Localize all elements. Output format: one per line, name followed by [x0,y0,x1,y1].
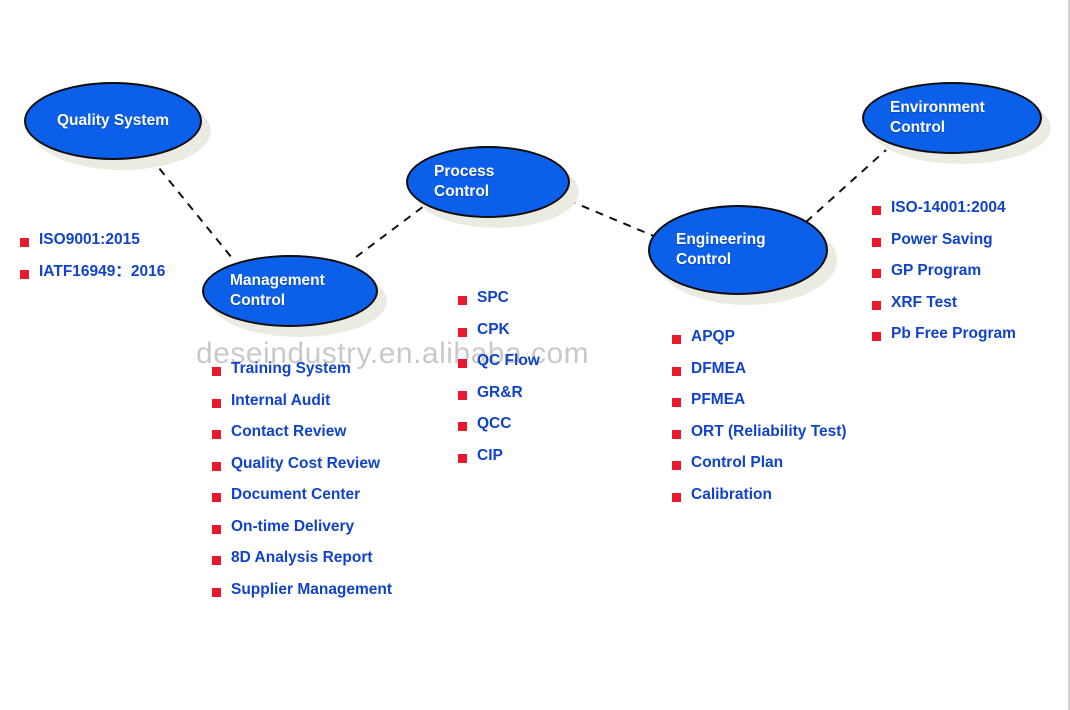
bullet-square-icon [872,238,881,247]
list-item-label: Internal Audit [231,393,330,409]
list-item-label: Calibration [691,487,772,503]
bullet-square-icon [872,332,881,341]
node-label-management-control: Management Control [204,271,376,311]
list-item-label: QCC [477,416,511,432]
bullet-square-icon [672,367,681,376]
list-item-label: IATF16949：2016 [39,264,165,280]
list-item: Quality Cost Review [212,456,392,472]
node-label-quality-system: Quality System [26,111,200,131]
bullet-square-icon [872,206,881,215]
list-item-label: Supplier Management [231,582,392,598]
list-item-label: SPC [477,290,509,306]
node-label-environment-control: Environment Control [864,98,1040,138]
list-item: XRF Test [872,295,1016,311]
list-item-label: ISO-14001:2004 [891,200,1006,216]
list-item: Internal Audit [212,393,392,409]
list-item-label: ORT (Reliability Test) [691,424,847,440]
list-item-label: Quality Cost Review [231,456,380,472]
list-item: GP Program [872,263,1016,279]
list-item-label: QC Flow [477,353,540,369]
connector-management-to-process [356,200,432,257]
list-item: ISO-14001:2004 [872,200,1016,216]
bullet-square-icon [458,454,467,463]
list-item: Control Plan [672,455,847,471]
list-item: Pb Free Program [872,326,1016,342]
list-item: PFMEA [672,392,847,408]
list-item-label: Contact Review [231,424,346,440]
list-item: Contact Review [212,424,392,440]
bullet-square-icon [458,422,467,431]
node-management-control[interactable]: Management Control [202,255,378,327]
list-item: ORT (Reliability Test) [672,424,847,440]
list-item-label: Training System [231,361,351,377]
bullet-list-engineering-control-items: APQPDFMEAPFMEAORT (Reliability Test)Cont… [672,329,847,502]
list-item-label: GR&R [477,385,523,401]
list-item-label: 8D Analysis Report [231,550,373,566]
list-item: QC Flow [458,353,540,369]
bullet-square-icon [212,493,221,502]
bullet-square-icon [458,391,467,400]
list-item-label: CPK [477,322,510,338]
list-item: On-time Delivery [212,519,392,535]
list-item: Training System [212,361,392,377]
list-item-label: Pb Free Program [891,326,1016,342]
list-item-label: APQP [691,329,735,345]
list-item: Power Saving [872,232,1016,248]
list-item: Document Center [212,487,392,503]
list-item-label: Document Center [231,487,360,503]
bullet-square-icon [212,588,221,597]
list-item: CIP [458,448,540,464]
bullet-list-management-control-items: Training SystemInternal AuditContact Rev… [212,361,392,597]
list-item: CPK [458,322,540,338]
bullet-square-icon [212,367,221,376]
bullet-square-icon [872,269,881,278]
bullet-square-icon [212,556,221,565]
list-item-label: CIP [477,448,503,464]
list-item: DFMEA [672,361,847,377]
node-quality-system[interactable]: Quality System [24,82,202,160]
node-label-process-control: Process Control [408,162,568,202]
node-environment-control[interactable]: Environment Control [862,82,1042,154]
bullet-square-icon [672,461,681,470]
bullet-square-icon [212,430,221,439]
list-item: SPC [458,290,540,306]
list-item-label: DFMEA [691,361,746,377]
bullet-square-icon [212,462,221,471]
bullet-square-icon [672,398,681,407]
node-label-engineering-control: Engineering Control [650,230,826,270]
node-process-control[interactable]: Process Control [406,146,570,218]
list-item: ISO9001:2015 [20,232,165,248]
list-item-label: GP Program [891,263,981,279]
bullet-list-environment-control-items: ISO-14001:2004Power SavingGP ProgramXRF … [872,200,1016,342]
bullet-square-icon [458,296,467,305]
bullet-square-icon [458,359,467,368]
bullet-square-icon [872,301,881,310]
list-item: 8D Analysis Report [212,550,392,566]
list-item-label: XRF Test [891,295,957,311]
list-item: GR&R [458,385,540,401]
list-item-label: On-time Delivery [231,519,354,535]
bullet-square-icon [458,328,467,337]
bullet-square-icon [672,493,681,502]
list-item: IATF16949：2016 [20,264,165,280]
list-item-label: Control Plan [691,455,783,471]
bullet-list-quality-system-items: ISO9001:2015IATF16949：2016 [20,232,165,279]
list-item: QCC [458,416,540,432]
bullet-square-icon [20,238,29,247]
bullet-square-icon [20,270,29,279]
list-item-label: Power Saving [891,232,993,248]
bullet-list-process-control-items: SPCCPKQC FlowGR&RQCCCIP [458,290,540,463]
bullet-square-icon [212,525,221,534]
node-engineering-control[interactable]: Engineering Control [648,205,828,295]
list-item-label: ISO9001:2015 [39,232,140,248]
diagram-canvas: Quality SystemManagement ControlProcess … [0,0,1070,710]
list-item-label: PFMEA [691,392,745,408]
bullet-square-icon [212,399,221,408]
list-item: Calibration [672,487,847,503]
bullet-square-icon [672,335,681,344]
bullet-square-icon [672,430,681,439]
list-item: APQP [672,329,847,345]
list-item: Supplier Management [212,582,392,598]
